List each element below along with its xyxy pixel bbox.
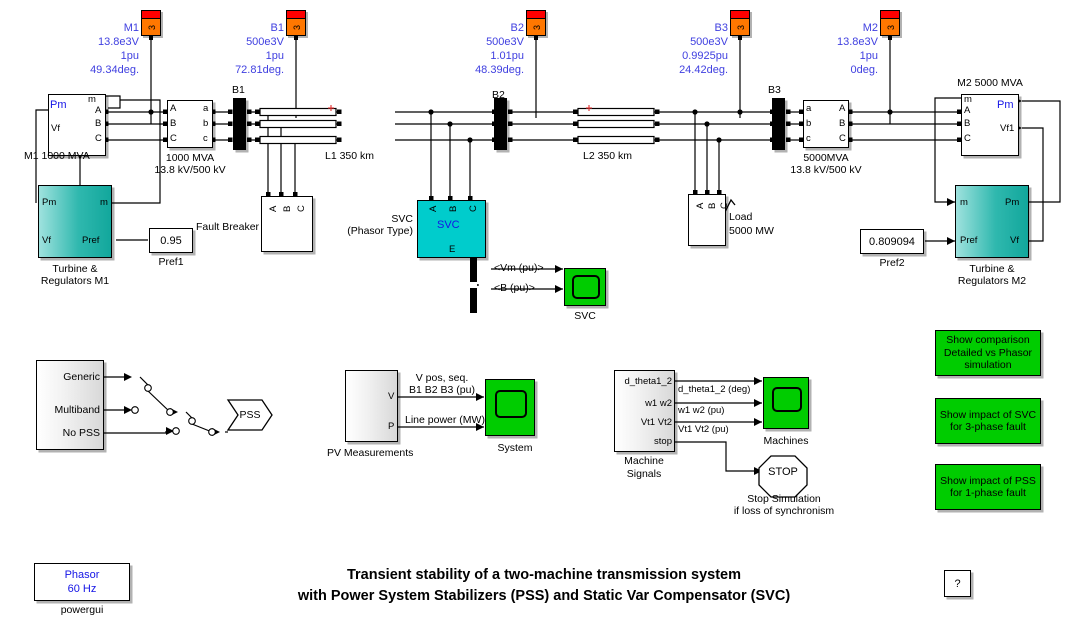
load-b-port: B (707, 203, 718, 209)
meter-badge-label: 3 (532, 25, 542, 30)
meter-badge-m1[interactable]: 3 (141, 10, 161, 36)
machines-scope-label: Machines (756, 435, 816, 447)
measurement-m1: M1 13.8e3V 1pu 49.34deg. (20, 21, 139, 77)
machine-signal-2-label: w1 w2 (pu) (678, 405, 724, 417)
system-scope[interactable] (485, 379, 535, 436)
stop-caption-line2: if loss of synchronism (712, 505, 856, 517)
transformer-t1-voltage: 13.8 kV/500 kV (138, 164, 242, 176)
measurement-b3-pu: 0.9925pu (609, 49, 728, 63)
pref1-value: 0.95 (160, 235, 181, 247)
turbine-m2-m-port: m (960, 198, 968, 208)
measurement-b2-pu: 1.01pu (405, 49, 524, 63)
fault-breaker-label: Fault Breaker (196, 221, 259, 233)
machine-m2-m-port: m (964, 95, 972, 105)
machines-scope[interactable] (763, 377, 809, 429)
svc-b-port: B (448, 206, 459, 212)
transformer-t2-rating: 5000MVA (784, 152, 868, 164)
turbine-m2-caption-line2: Regulators M2 (940, 275, 1044, 287)
measurement-b2: B2 500e3V 1.01pu 48.39deg. (405, 21, 524, 77)
transformer-t1-c-port: C (170, 134, 177, 144)
machine-signals-out3: Vt1 Vt2 (610, 417, 672, 429)
show-svc-impact-button-label: Show impact of SVC for 3-phase fault (940, 409, 1036, 434)
pref1-constant-block[interactable]: 0.95 (149, 228, 193, 253)
svc-e-port: E (449, 245, 455, 255)
measurement-m1-pu: 1pu (20, 49, 139, 63)
transformer-t2-voltage: 13.8 kV/500 kV (774, 164, 878, 176)
turbine-m1-caption-line2: Regulators M1 (23, 275, 127, 287)
measurement-m2-pu: 1pu (759, 49, 878, 63)
meter-badge-label: 3 (886, 25, 896, 30)
machine-m1-m-port: m (88, 95, 96, 105)
machine-m1-pm-port: Pm (50, 99, 67, 111)
stop-block-label[interactable]: STOP (761, 466, 805, 478)
load-label-line2: 5000 MW (729, 225, 774, 237)
powergui-mode: Phasor (65, 568, 100, 582)
turbine-m1-m-port: m (100, 198, 108, 208)
measurement-b2-angle: 48.39deg. (405, 63, 524, 77)
show-comparison-button[interactable]: Show comparison Detailed vs Phasor simul… (935, 330, 1041, 376)
measurement-b1-name: B1 (165, 21, 284, 35)
measurement-b3-voltage: 500e3V (609, 35, 728, 49)
measurement-m2: M2 13.8e3V 1pu 0deg. (759, 21, 878, 77)
pref2-caption: Pref2 (862, 257, 922, 269)
pss-option-generic[interactable]: Generic (40, 371, 100, 383)
pv-signal-p-label: Line power (MW) (405, 414, 485, 426)
transformer-t1-b-sec-port: b (203, 119, 208, 129)
measurement-m2-voltage: 13.8e3V (759, 35, 878, 49)
pv-signal-v-line1: V pos, seq. (400, 372, 484, 384)
load-a-port: A (695, 203, 706, 209)
bus-b2-label: B2 (492, 89, 505, 101)
busbar-b1[interactable] (233, 98, 246, 150)
transformer-t2-b-sec-port: b (806, 119, 811, 129)
pref2-constant-block[interactable]: 0.809094 (860, 229, 924, 254)
pref1-caption: Pref1 (141, 256, 201, 268)
fault-breaker-b-port: B (282, 206, 293, 212)
powergui-block[interactable]: Phasor 60 Hz (34, 563, 130, 601)
machine-m2-caption: M2 5000 MVA (938, 77, 1042, 89)
machine-m1-a-port: A (95, 106, 101, 116)
machine-m2-vf-port: Vf1 (1000, 124, 1014, 134)
load-c-port: C (719, 202, 730, 209)
line-l2-label: L2 350 km (583, 150, 632, 162)
line-l1-label: L1 350 km (325, 150, 374, 162)
page-title-line2: with Power System Stabilizers (PSS) and … (186, 586, 902, 607)
transformer-t1-b-port: B (170, 119, 176, 129)
transformer-t2-a-port: A (839, 104, 845, 114)
pv-signal-v-line2: B1 B2 B3 (pu) (400, 384, 484, 396)
svc-block-label: SVC (437, 219, 460, 231)
meter-badge-label: 3 (292, 25, 302, 30)
svc-caption-line2: (Phasor Type) (320, 225, 413, 237)
powergui-frequency: 60 Hz (68, 582, 97, 596)
measurement-b1-pu: 1pu (165, 49, 284, 63)
measurement-b2-name: B2 (405, 21, 524, 35)
turbine-m2-caption-line1: Turbine & (940, 263, 1044, 275)
measurement-m1-voltage: 13.8e3V (20, 35, 139, 49)
powergui-caption: powergui (34, 604, 130, 616)
machine-signals-caption-line1: Machine (611, 455, 677, 467)
transformer-t1-c-sec-port: c (203, 134, 208, 144)
transformer-t1-a-port: A (170, 104, 176, 114)
turbine-m1-vf-port: Vf (42, 236, 51, 246)
transformer-t1-a-sec-port: a (203, 104, 208, 114)
busbar-b3[interactable] (772, 98, 785, 150)
pv-measurements-caption: PV Measurements (327, 447, 413, 459)
machine-m1-c-port: C (95, 134, 102, 144)
meter-badge-label: 3 (147, 25, 157, 30)
help-block-label: ? (954, 578, 960, 590)
machine-signals-caption-line2: Signals (611, 468, 677, 480)
measurement-m1-name: M1 (20, 21, 139, 35)
machine-m2-a-port: A (964, 106, 970, 116)
meter-badge-m2[interactable]: 3 (880, 10, 900, 36)
svc-signal-vm-label: <Vm (pu)> (494, 262, 544, 274)
svc-caption-line1: SVC (320, 213, 413, 225)
svc-c-port: C (468, 205, 479, 212)
bus-b1-label: B1 (232, 84, 245, 96)
turbine-m1-pm-port: Pm (42, 198, 56, 208)
bus-b3-label: B3 (768, 84, 781, 96)
svc-signal-b-label: <B (pu)> (494, 282, 535, 294)
turbine-m2-pm-port: Pm (1005, 198, 1019, 208)
simulink-model-canvas: 3 3 3 3 3 M1 13.8e3V 1pu 49.34deg. B1 50… (0, 0, 1072, 629)
transformer-t2-c-sec-port: c (806, 134, 811, 144)
measurement-b3: B3 500e3V 0.9925pu 24.42deg. (609, 21, 728, 77)
fault-breaker-a-port: A (268, 206, 279, 212)
machine-m1-vf-port: Vf (51, 124, 60, 134)
turbine-m1-pref-port: Pref (82, 236, 99, 246)
machine-m1-caption: M1 1000 MVA (24, 150, 90, 162)
page-title: Transient stability of a two-machine tra… (186, 565, 902, 607)
measurement-b2-voltage: 500e3V (405, 35, 524, 49)
measurement-m1-angle: 49.34deg. (20, 63, 139, 77)
turbine-regulators-m2[interactable] (955, 185, 1029, 258)
show-pss-impact-button[interactable]: Show impact of PSS for 1-phase fault (935, 464, 1041, 510)
help-block[interactable]: ? (944, 570, 971, 597)
machine-m1-b-port: B (95, 119, 101, 129)
turbine-m1-caption-line1: Turbine & (23, 263, 127, 275)
show-svc-impact-button[interactable]: Show impact of SVC for 3-phase fault (935, 398, 1041, 444)
load-label-line1: Load (729, 211, 752, 223)
pv-measurements-p-port: P (388, 422, 394, 432)
measurement-b3-name: B3 (609, 21, 728, 35)
pv-measurements-v-port: V (388, 392, 394, 402)
pref2-value: 0.809094 (869, 236, 915, 248)
measurement-b1-voltage: 500e3V (165, 35, 284, 49)
show-comparison-button-label: Show comparison Detailed vs Phasor simul… (944, 334, 1032, 372)
turbine-m2-pref-port: Pref (960, 236, 977, 246)
machine-signal-1-label: d_theta1_2 (deg) (678, 384, 750, 396)
transformer-t2-c-port: C (839, 134, 846, 144)
meter-badge-label: 3 (736, 25, 746, 30)
pss-option-multiband[interactable]: Multiband (40, 404, 100, 416)
turbine-regulators-m1[interactable] (38, 185, 112, 258)
measurement-m2-name: M2 (759, 21, 878, 35)
system-scope-label: System (485, 442, 545, 454)
turbine-m2-vf-port: Vf (1010, 236, 1019, 246)
svc-scope-label: SVC (560, 310, 610, 322)
busbar-b2[interactable] (494, 98, 507, 150)
machine-signals-out2: w1 w2 (610, 398, 672, 410)
machine-signal-3-label: Vt1 Vt2 (pu) (678, 424, 729, 436)
machine-signals-out4: stop (610, 436, 672, 448)
measurement-b3-angle: 24.42deg. (609, 63, 728, 77)
machine-m2-b-port: B (964, 119, 970, 129)
transformer-t1-rating: 1000 MVA (148, 152, 232, 164)
svc-a-port: A (428, 206, 439, 212)
meter-badge-b2[interactable]: 3 (526, 10, 546, 36)
wiring-layer (0, 0, 1072, 629)
stop-caption-line1: Stop Simulation (720, 493, 848, 505)
measurement-b1: B1 500e3V 1pu 72.81deg. (165, 21, 284, 77)
machine-m2-pm-port: Pm (997, 99, 1014, 111)
fault-breaker-c-port: C (296, 205, 307, 212)
pss-output-label: PSS (228, 409, 272, 421)
pss-option-no-pss[interactable]: No PSS (40, 427, 100, 439)
meter-badge-b3[interactable]: 3 (730, 10, 750, 36)
measurement-b1-angle: 72.81deg. (165, 63, 284, 77)
transformer-t2-a-sec-port: a (806, 104, 811, 114)
machine-signals-out1: d_theta1_2 (610, 376, 672, 388)
meter-badge-b1[interactable]: 3 (286, 10, 306, 36)
measurement-m2-angle: 0deg. (759, 63, 878, 77)
page-title-line1: Transient stability of a two-machine tra… (186, 565, 902, 586)
transformer-t2-b-port: B (839, 119, 845, 129)
svc-scope[interactable] (564, 268, 606, 306)
show-pss-impact-button-label: Show impact of PSS for 1-phase fault (940, 475, 1036, 500)
machine-m2-c-port: C (964, 134, 971, 144)
